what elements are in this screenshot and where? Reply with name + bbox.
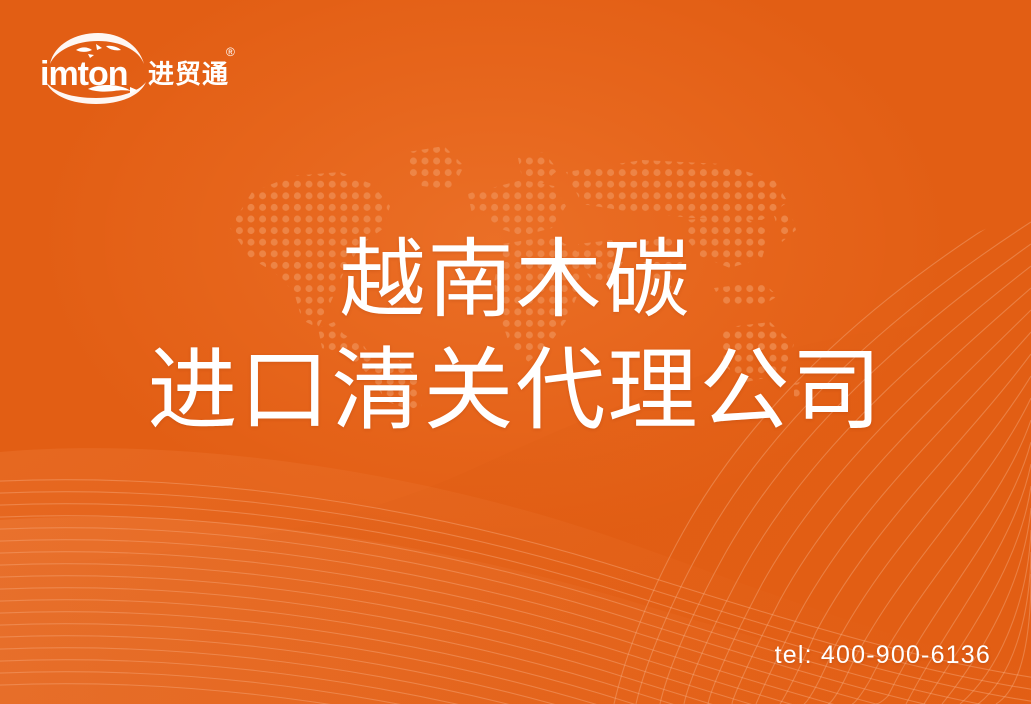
trademark-icon: ® bbox=[226, 45, 235, 59]
headline-line-2: 进口清关代理公司 bbox=[0, 337, 1031, 447]
logo-chinese-text: 进贸通 bbox=[148, 59, 229, 89]
headline: 越南木碳 进口清关代理公司 bbox=[0, 228, 1031, 447]
logo-latin-text: imton bbox=[40, 55, 128, 93]
contact-phone[interactable]: tel: 400-900-6136 bbox=[775, 641, 991, 670]
company-logo[interactable]: imton 进贸通 ® bbox=[36, 30, 248, 108]
promo-banner: imton 进贸通 ® 越南木碳 进口清关代理公司 tel: 400-900-6… bbox=[0, 0, 1031, 704]
headline-line-1: 越南木碳 bbox=[0, 228, 1031, 333]
